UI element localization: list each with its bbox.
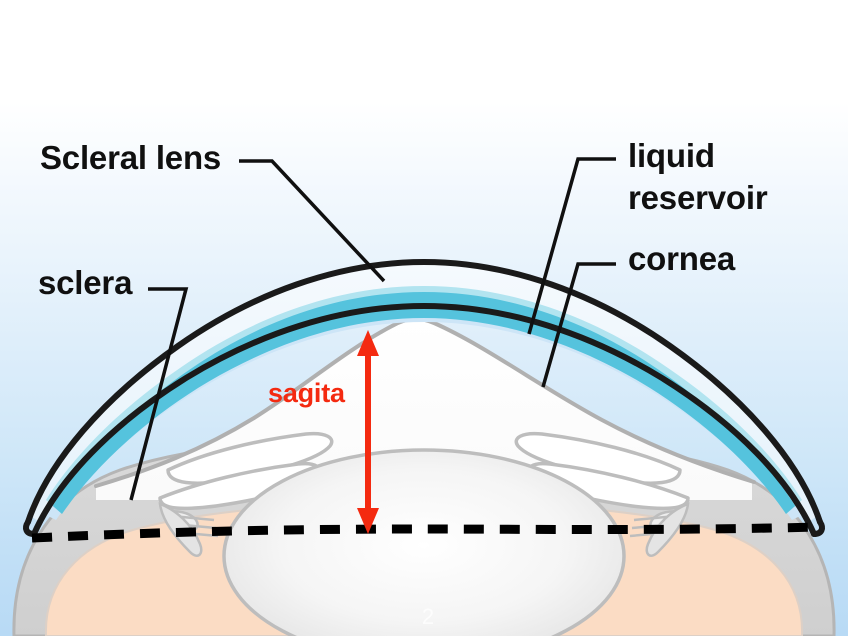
- leader-scleral-lens: [239, 161, 384, 281]
- watermark: 2: [422, 604, 434, 629]
- eye-cross-section-svg: 2: [0, 0, 848, 636]
- diagram-canvas: 2 Scleral lens sclera liquid reservoir c…: [0, 0, 848, 636]
- label-sclera: sclera: [38, 265, 132, 301]
- label-scleral-lens: Scleral lens: [40, 140, 221, 176]
- label-sagita: sagita: [268, 378, 345, 409]
- label-liquid-reservoir-line2: reservoir: [628, 180, 767, 216]
- label-liquid-reservoir-line1: liquid: [628, 138, 715, 174]
- label-cornea: cornea: [628, 241, 735, 277]
